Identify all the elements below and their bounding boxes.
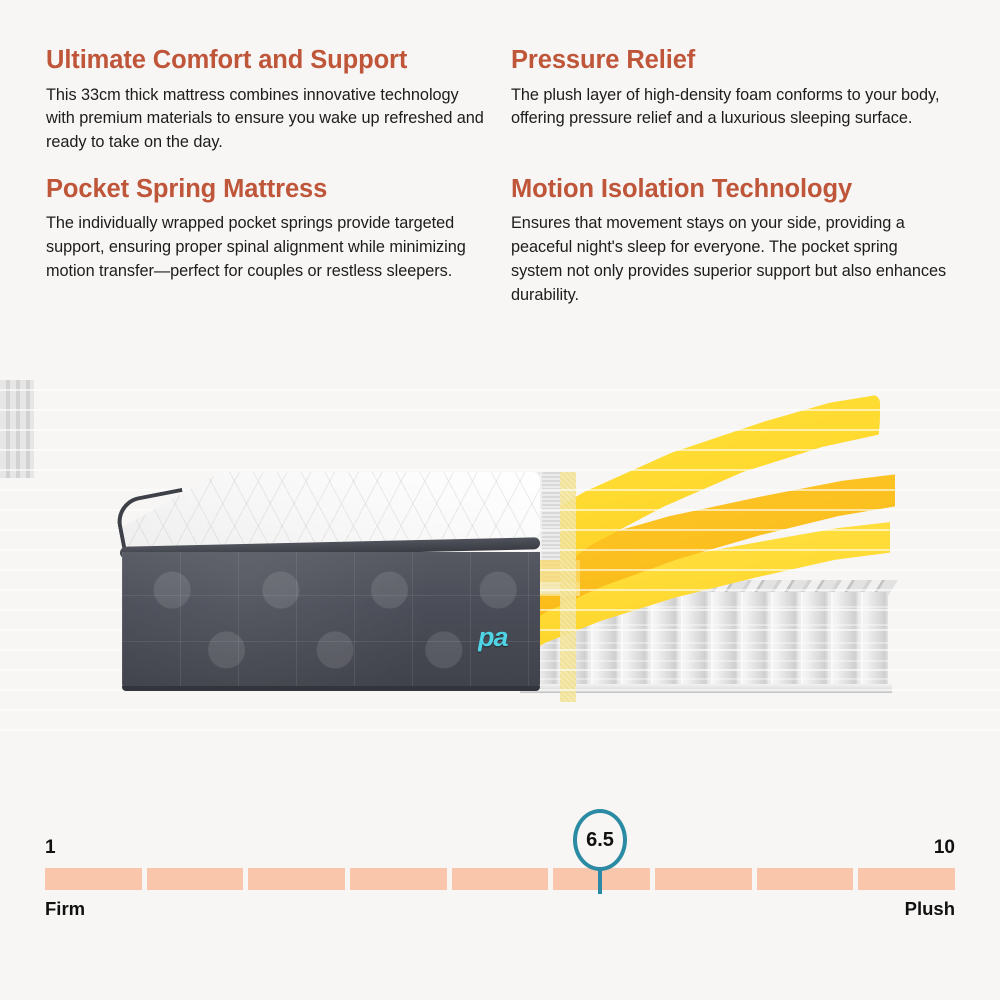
firmness-marker-value: 6.5 [573,809,627,871]
scale-segment[interactable] [350,868,447,890]
firmness-marker[interactable]: 6.5 [573,809,627,871]
side-panel-fabric [122,552,540,688]
mattress-body: pa [120,472,540,702]
scale-segment[interactable] [45,868,142,890]
scale-segment[interactable] [452,868,549,890]
brand-logo: pa [478,622,508,653]
feature-title: Motion Isolation Technology [511,175,951,204]
mattress-cutaway-illustration: pa [0,380,1000,740]
feature-list: Ultimate Comfort and Support This 33cm t… [0,0,1000,308]
feature-pocket-spring-mattress: Pocket Spring Mattress The individually … [46,175,501,308]
feature-motion-isolation-technology: Motion Isolation Technology Ensures that… [511,175,960,308]
feature-title: Ultimate Comfort and Support [46,46,501,75]
feature-title: Pocket Spring Mattress [46,175,501,204]
scale-min-label: 1 [45,837,56,859]
illustration-stage: pa [0,380,1000,740]
scale-segment[interactable] [757,868,854,890]
scale-segment[interactable] [655,868,752,890]
scale-plush-label: Plush [905,898,955,920]
feature-ultimate-comfort-and-support: Ultimate Comfort and Support This 33cm t… [46,46,501,155]
firmness-scale: 1 10 6.5 Firm Plush [0,805,1000,935]
cutaway-spring-column [0,380,34,478]
feature-body: The individually wrapped pocket springs … [46,212,486,283]
scale-segment[interactable] [147,868,244,890]
feature-body: The plush layer of high-density foam con… [511,84,951,132]
bottom-trim [122,686,540,691]
product-detail-page: Ultimate Comfort and Support This 33cm t… [0,0,1000,1000]
firmness-marker-stem [598,869,602,894]
firmness-scale-track[interactable] [45,868,955,890]
feature-pressure-relief: Pressure Relief The plush layer of high-… [511,46,960,155]
feature-body: Ensures that movement stays on your side… [511,212,951,307]
feature-body: This 33cm thick mattress combines innova… [46,84,486,155]
scale-segment[interactable] [248,868,345,890]
scale-firm-label: Firm [45,898,85,920]
scale-segment[interactable] [858,868,955,890]
scale-max-label: 10 [934,837,955,859]
feature-title: Pressure Relief [511,46,951,75]
